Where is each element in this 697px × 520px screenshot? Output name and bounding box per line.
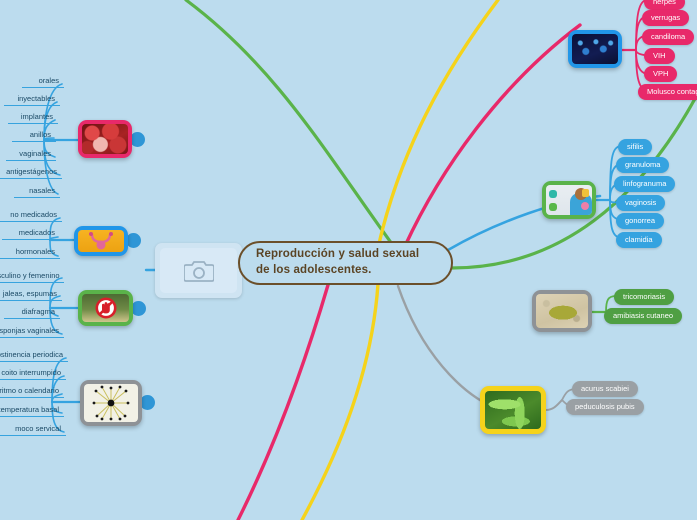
branch-node-barrera[interactable] bbox=[78, 290, 133, 326]
leaf-right-3-2[interactable]: amibiasis cutaneo bbox=[604, 308, 682, 324]
image-pollen-cell bbox=[84, 384, 138, 422]
leaf-label: granuloma bbox=[625, 160, 660, 169]
mindmap-canvas[interactable]: Reproducción y salud sexual de los adole… bbox=[0, 0, 697, 520]
leaf-label: tricomoriasis bbox=[623, 292, 665, 301]
leaf-left-3-1[interactable]: masculino y femenino bbox=[0, 270, 64, 283]
branch-node-hormonales[interactable] bbox=[78, 120, 132, 158]
image-virus-network-dark bbox=[572, 34, 618, 64]
leaf-left-1-6[interactable]: antigestágenos bbox=[0, 166, 62, 179]
pink-arc-bottom bbox=[238, 285, 328, 520]
image-person-mask-icons bbox=[546, 185, 592, 215]
branch-node-parasitos[interactable] bbox=[480, 386, 546, 434]
leaf-right-3-1[interactable]: tricomoriasis bbox=[614, 289, 674, 305]
right1-leaf-link-4 bbox=[636, 50, 644, 55]
leaf-right-1-2[interactable]: verrugas bbox=[642, 10, 689, 26]
leaf-label: diafragma bbox=[22, 307, 55, 316]
leaf-right-2-4[interactable]: vaginosis bbox=[616, 195, 665, 211]
leaf-label: herpes bbox=[653, 0, 676, 6]
leaf-left-1-5[interactable]: vaginales bbox=[6, 148, 56, 161]
leaf-left-3-4[interactable]: esponjas vaginales bbox=[0, 325, 64, 338]
leaf-label: antigestágenos bbox=[6, 167, 57, 176]
leaf-left-3-3[interactable]: diafragma bbox=[4, 306, 60, 319]
leaf-label: inyectables bbox=[17, 94, 55, 103]
uterus-icon bbox=[88, 232, 114, 250]
leaf-label: VPH bbox=[653, 69, 668, 78]
leaf-label: VIH bbox=[653, 51, 666, 60]
leaf-label: temperatura basal bbox=[0, 405, 59, 414]
leaf-label: vaginales bbox=[19, 149, 51, 158]
leaf-left-2-1[interactable]: no medicados bbox=[0, 209, 62, 222]
leaf-left-1-3[interactable]: implantes bbox=[8, 111, 58, 124]
leaf-label: jaleas, espumas bbox=[3, 289, 57, 298]
leaf-left-2-3[interactable]: hormonales bbox=[0, 246, 60, 259]
stop-hand-icon bbox=[95, 297, 117, 319]
icon-badge-4 bbox=[581, 202, 589, 210]
image-microscope-protozoa bbox=[536, 294, 588, 328]
leaf-label: vaginosis bbox=[625, 198, 656, 207]
icon-badge-1 bbox=[549, 190, 557, 198]
right4-spine bbox=[546, 400, 562, 410]
leaf-right-2-1[interactable]: sifilis bbox=[618, 139, 652, 155]
leaf-right-2-5[interactable]: gonorrea bbox=[616, 213, 664, 229]
image-green-bacteria bbox=[485, 391, 541, 429]
branch-node-virales[interactable] bbox=[568, 30, 622, 68]
central-topic-line-1: Reproducción y salud sexual bbox=[256, 248, 419, 260]
leaf-right-1-6[interactable]: Molusco contagioso bbox=[638, 84, 697, 100]
leaf-left-4-1[interactable]: abstinencia periodica bbox=[0, 349, 68, 362]
leaf-left-1-4[interactable]: anillos bbox=[12, 129, 56, 142]
branch-node-bacterianas[interactable] bbox=[542, 181, 596, 219]
leaf-label: moco servical bbox=[15, 424, 61, 433]
leaf-label: amibiasis cutaneo bbox=[613, 311, 673, 320]
icon-badge-3 bbox=[582, 189, 589, 197]
image-red-blood-cells bbox=[82, 124, 128, 154]
leaf-label: sifilis bbox=[627, 142, 643, 151]
branch-knob-hormonales bbox=[130, 132, 145, 147]
leaf-left-1-2[interactable]: inyectables bbox=[4, 93, 60, 106]
branch-node-naturales[interactable] bbox=[80, 380, 142, 426]
green-arc-upper-left bbox=[186, 0, 400, 255]
leaf-right-2-6[interactable]: clamidia bbox=[616, 232, 662, 248]
branch-node-dispositivos[interactable] bbox=[74, 226, 128, 256]
image-stop-hand-sign bbox=[82, 294, 129, 322]
leaf-label: hormonales bbox=[16, 247, 55, 256]
leaf-label: nasales bbox=[29, 186, 55, 195]
branch-knob-barrera bbox=[131, 301, 146, 316]
leaf-label: candiloma bbox=[651, 32, 685, 41]
leaf-label: orales bbox=[39, 76, 59, 85]
leaf-left-2-2[interactable]: medicados bbox=[2, 227, 60, 240]
central-topic-line-2: de los adolescentes. bbox=[256, 264, 372, 276]
yellow-arc-bottom bbox=[302, 284, 378, 520]
leaf-label: coito interrumpido bbox=[1, 368, 61, 377]
leaf-right-2-3[interactable]: linfogranuma bbox=[614, 176, 675, 192]
leaf-left-1-7[interactable]: nasales bbox=[14, 185, 60, 198]
leaf-label: medicados bbox=[19, 228, 55, 237]
leaf-right-4-2[interactable]: peduculosis pubis bbox=[566, 399, 644, 415]
central-topic-text: Reproducción y salud sexual de los adole… bbox=[256, 247, 419, 278]
leaf-label: peduculosis pubis bbox=[575, 402, 635, 411]
branch-node-protozoarios[interactable] bbox=[532, 290, 592, 332]
leaf-right-1-4[interactable]: VIH bbox=[644, 48, 675, 64]
yellow-arc-top bbox=[378, 0, 498, 248]
right2-leaf-link-1 bbox=[610, 146, 620, 200]
leaf-label: clamidia bbox=[625, 235, 653, 244]
leaf-label: linfogranuma bbox=[623, 179, 666, 188]
leaf-right-1-1[interactable]: herpes bbox=[644, 0, 685, 10]
leaf-right-1-3[interactable]: candiloma bbox=[642, 29, 694, 45]
branch-knob-naturales bbox=[140, 395, 155, 410]
leaf-label: implantes bbox=[21, 112, 53, 121]
leaf-right-1-5[interactable]: VPH bbox=[644, 66, 677, 82]
leaf-label: anillos bbox=[30, 130, 51, 139]
leaf-label: Molusco contagioso bbox=[647, 87, 697, 96]
leaf-label: masculino y femenino bbox=[0, 271, 60, 280]
leaf-label: abstinencia periodica bbox=[0, 350, 63, 359]
branch-knob-dispositivos bbox=[126, 233, 141, 248]
leaf-left-1-1[interactable]: orales bbox=[22, 75, 64, 88]
leaf-left-4-3[interactable]: ritmo o calendario bbox=[0, 385, 64, 398]
leaf-label: acurus scabiei bbox=[581, 384, 629, 393]
leaf-left-4-2[interactable]: coito interrumpido bbox=[0, 367, 66, 380]
image-placeholder-inner bbox=[160, 248, 237, 293]
central-topic-node[interactable]: Reproducción y salud sexual de los adole… bbox=[238, 241, 453, 285]
image-placeholder-node[interactable] bbox=[155, 243, 242, 298]
leaf-right-4-1[interactable]: acurus scabiei bbox=[572, 381, 638, 397]
leaf-label: gonorrea bbox=[625, 216, 655, 225]
right1-leaf-link-5 bbox=[636, 50, 644, 73]
camera-icon bbox=[184, 259, 214, 283]
leaf-label: esponjas vaginales bbox=[0, 326, 59, 335]
leaf-label: verrugas bbox=[651, 13, 680, 22]
leaf-left-4-4[interactable]: temperatura basal bbox=[0, 404, 64, 417]
leaf-label: ritmo o calendario bbox=[0, 386, 59, 395]
leaf-left-4-5[interactable]: moco servical bbox=[0, 423, 66, 436]
pollen-icon bbox=[88, 384, 134, 422]
leaf-label: no medicados bbox=[10, 210, 57, 219]
leaf-right-2-2[interactable]: granuloma bbox=[616, 157, 669, 173]
icon-badge-2 bbox=[549, 203, 557, 211]
leaf-left-3-2[interactable]: jaleas, espumas bbox=[0, 288, 62, 301]
image-uterus-diagram bbox=[78, 230, 124, 252]
